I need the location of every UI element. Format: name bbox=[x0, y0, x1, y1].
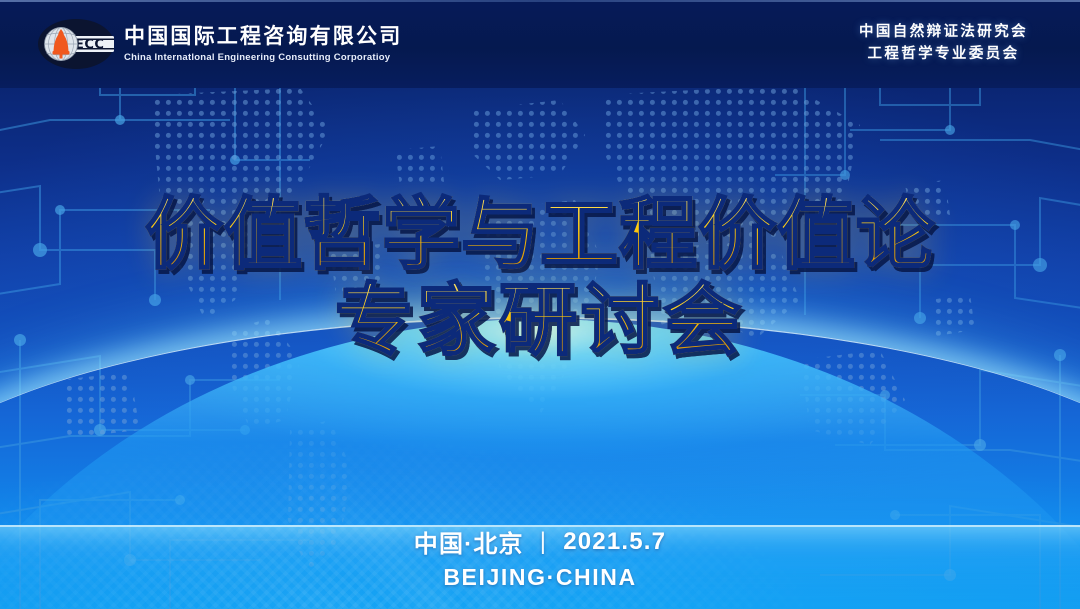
banner-header: ECC 中 bbox=[0, 0, 1080, 88]
brand-block: ECC 中 bbox=[0, 18, 402, 70]
background-vignette bbox=[0, 0, 1080, 609]
organizer-line-2: 工程哲学专业委员会 bbox=[859, 44, 1028, 66]
brand-text-block: 中国国际工程咨询有限公司 China Internatlonal Enginee… bbox=[124, 26, 402, 63]
company-name-cn: 中国国际工程咨询有限公司 bbox=[124, 26, 402, 47]
ecc-globe-bell-logo-icon: ECC bbox=[38, 18, 114, 70]
organizer-line-1: 中国自然辩证法研究会 bbox=[859, 22, 1028, 44]
conference-banner: ECC 中 bbox=[0, 0, 1080, 609]
organizer-block: 中国自然辩证法研究会 工程哲学专业委员会 bbox=[859, 22, 1080, 66]
svg-text:ECC: ECC bbox=[75, 38, 104, 53]
company-name-en: China Internatlonal Engineering Consutti… bbox=[124, 53, 402, 63]
